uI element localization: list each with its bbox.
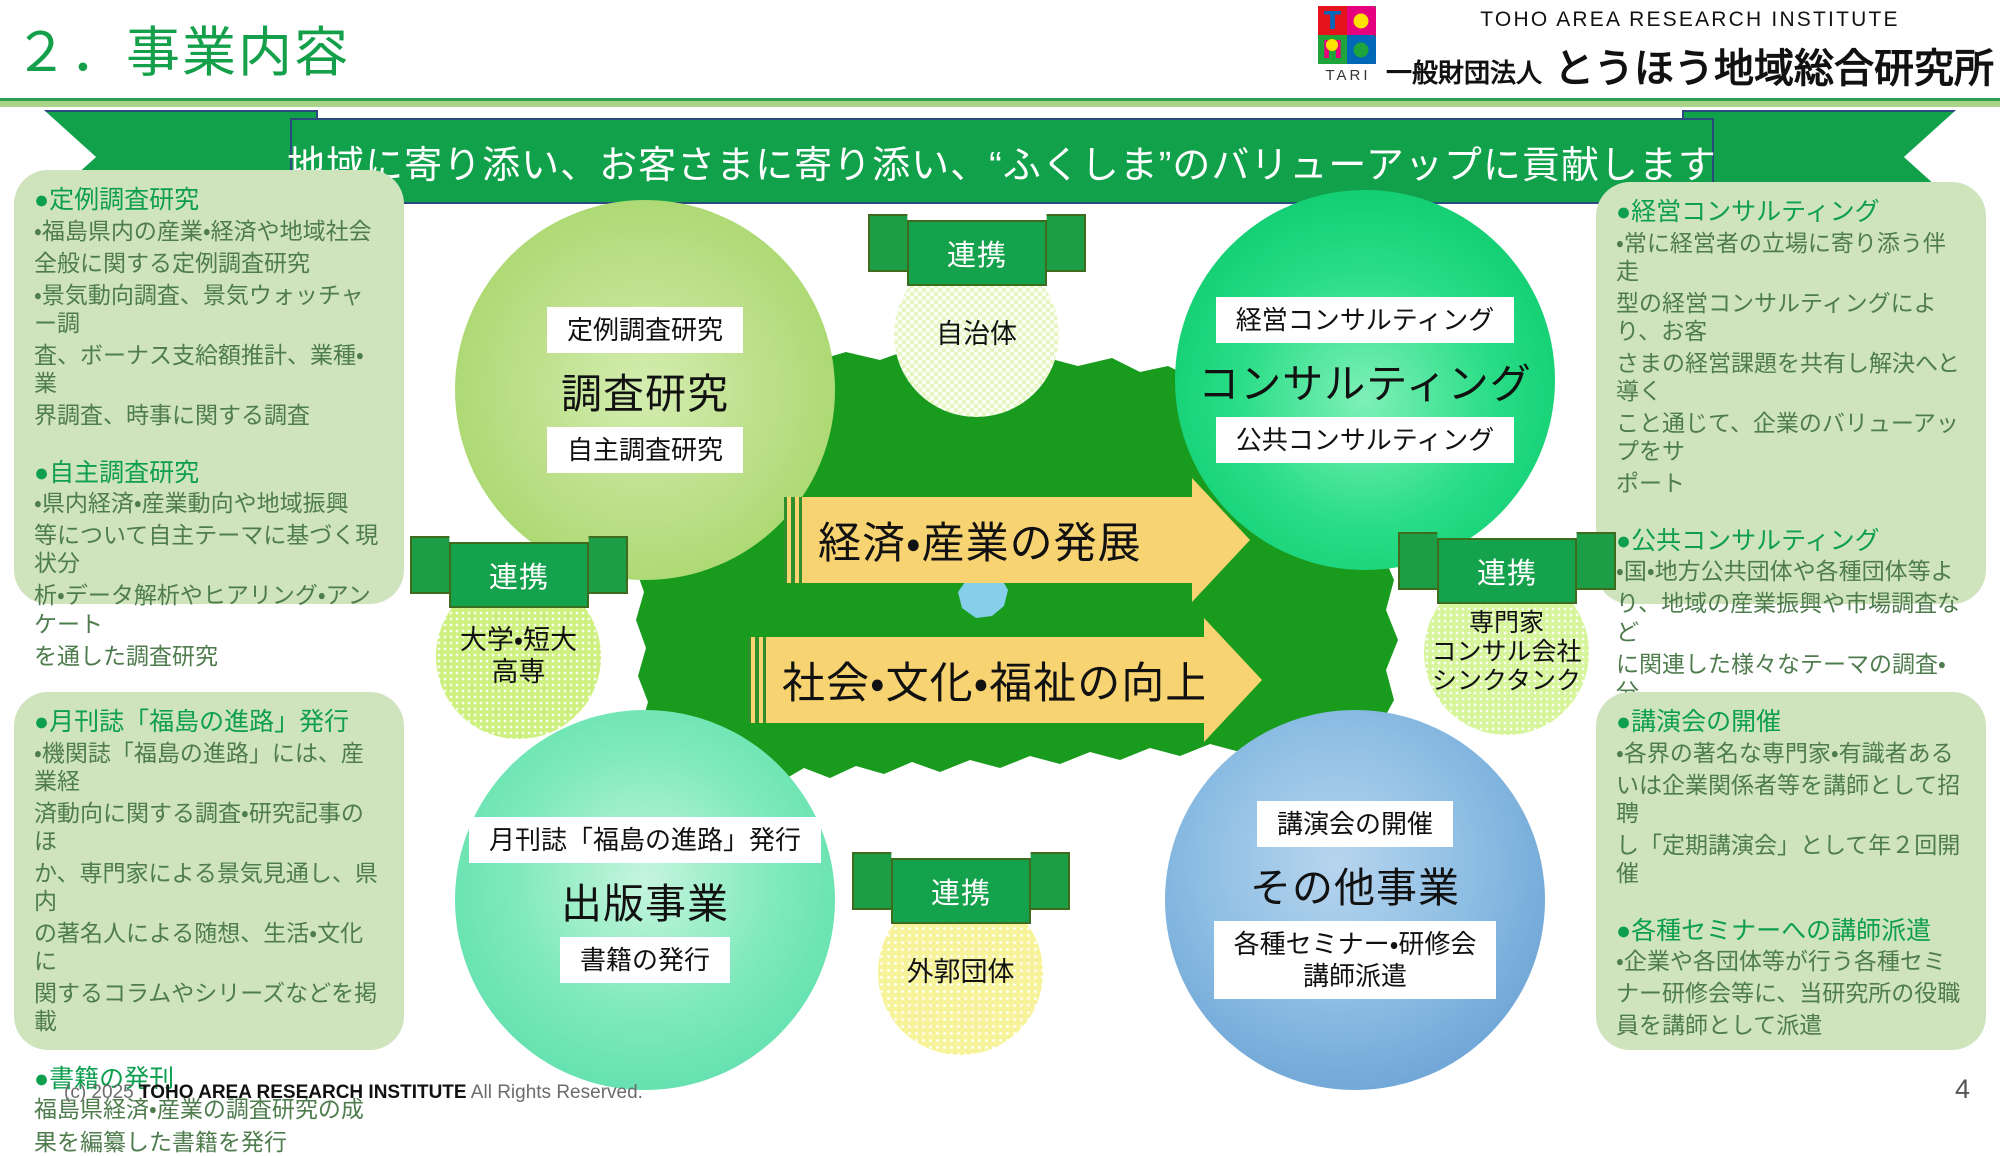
panel-line: り、地域の産業振興や市場調査など [1616,589,1968,645]
cooperation-ribbon: 連携 [1398,530,1616,604]
circle-title: その他事業 [1250,854,1460,914]
business-circle-other[interactable]: 講演会の開催 その他事業 各種セミナー・研修会講師派遣 [1165,710,1545,1090]
circle-title: 調査研究 [561,360,729,420]
panel-line: ・県内経済・産業動向や地域振興 [34,489,386,517]
partner-label: 大学・短大 [460,625,577,656]
tagline-text: 地域に寄り添い、お客さまに寄り添い、“ふくしま”のバリューアップに貢献します [287,134,1717,189]
logo-abbrev: TARI [1318,67,1378,84]
logo-english-name: TOHO AREA RESEARCH INSTITUTE [1386,8,1994,32]
cooperation-ribbon: 連携 [410,534,628,608]
circle-tag-top: 月刊誌「福島の進路」発行 [469,817,821,863]
panel-research-details: ●定例調査研究 ・福島県内の産業・経済や地域社会 全般に関する定例調査研究 ・景… [14,170,404,604]
panel-line: を通した調査研究 [34,642,386,670]
toho-logo-mark: T H TARI [1318,2,1378,84]
partner-university[interactable]: 連携 大学・短大 高専 [436,574,601,739]
arrow-stripes-icon [748,637,766,723]
panel-line: ・各界の著名な専門家・有識者ある [1616,739,1968,767]
partner-label-line3: シンクタンク [1432,667,1581,696]
partner-label-line2: コンサル会社 [1431,638,1581,667]
panel-line: し「定期講演会」として年２回開催 [1616,831,1968,887]
circle-tag-top: 定例調査研究 [547,307,743,353]
partner-municipality[interactable]: 連携 自治体 [894,252,1059,417]
footer-copyright: (c) 2025 TOHO AREA RESEARCH INSTITUTE Al… [64,1082,643,1104]
panel-spacer [1616,891,1968,917]
panel-heading: ●月刊誌「福島の進路」発行 [34,708,386,738]
panel-line: ・国・地方公共団体や各種団体等よ [1616,557,1968,585]
panel-line: さまの経営課題を共有し解決へと導く [1616,349,1968,405]
panel-line: 全般に関する定例調査研究 [34,249,386,277]
panel-line: こと通じて、企業のバリューアップをサ [1616,409,1968,465]
arrow-stripes-icon [784,497,802,583]
panel-line: か、専門家による景気見通し、県内 [34,859,386,915]
ribbon-center: 地域に寄り添い、お客さまに寄り添い、“ふくしま”のバリューアップに貢献します [290,118,1714,204]
copyright-suffix: All Rights Reserved. [467,1082,643,1103]
cooperation-ribbon: 連携 [868,212,1086,286]
panel-other-details: ●講演会の開催 ・各界の著名な専門家・有識者ある いは企業関係者等を講師として招… [1596,692,1986,1050]
circle-tag-top: 経営コンサルティング [1216,297,1514,343]
logo-corp-prefix: 一般財団法人 [1386,53,1542,90]
circle-tag-bottom: 各種セミナー・研修会講師派遣 [1214,921,1497,999]
page-title: ２．事業内容 [14,8,350,87]
partner-label: 専門家 [1469,609,1544,638]
circle-title: コンサルティング [1198,350,1532,410]
circle-tag-bottom: 自主調査研究 [547,427,743,473]
partner-label-line2: 高専 [492,657,546,688]
panel-line: いは企業関係者等を講師として招聘 [1616,771,1968,827]
arrow-society: 社会・文化・福祉の向上 [748,618,1262,742]
cooperation-ribbon: 連携 [852,850,1070,924]
panel-heading: ●公共コンサルティング [1616,527,1968,557]
panel-line: 等について自主テーマに基づく現状分 [34,521,386,577]
business-circle-research[interactable]: 定例調査研究 調査研究 自主調査研究 [455,200,835,580]
panel-publishing-details: ●月刊誌「福島の進路」発行 ・機関誌「福島の進路」には、産業経 済動向に関する調… [14,692,404,1050]
slide-header: ２．事業内容 T H [0,0,2000,100]
panel-heading: ●自主調査研究 [34,459,386,489]
panel-line: ポート [1616,469,1968,497]
partner-expert[interactable]: 連携 専門家 コンサル会社 シンクタンク [1424,570,1589,735]
panel-line: 済動向に関する調査・研究記事のほ [34,799,386,855]
arrow-label: 社会・文化・福祉の向上 [772,649,1209,711]
panel-spacer [34,433,386,459]
copyright-org: TOHO AREA RESEARCH INSTITUTE [139,1082,467,1103]
panel-line: ・機関誌「福島の進路」には、産業経 [34,739,386,795]
panel-line: 型の経営コンサルティングにより、お客 [1616,289,1968,345]
logo-corp-name: とうほう地域総合研究所 [1554,36,1994,94]
partner-label: 自治体 [936,319,1017,350]
panel-heading: ●経営コンサルティング [1616,198,1968,228]
panel-heading: ●講演会の開催 [1616,708,1968,738]
ribbon-label: 連携 [907,220,1047,286]
circle-tag-top: 講演会の開催 [1257,801,1453,847]
arrow-economy: 経済・産業の発展 [784,478,1250,602]
ribbon-label: 連携 [1437,538,1577,604]
panel-heading: ●定例調査研究 [34,186,386,216]
copyright-prefix: (c) 2025 [64,1082,139,1103]
panel-line: ・福島県内の産業・経済や地域社会 [34,217,386,245]
panel-line: の著名人による随想、生活・文化に [34,919,386,975]
panel-line: 査、ボーナス支給額推計、業種・業 [34,341,386,397]
toho-logo-squares: T H [1318,6,1376,64]
panel-spacer [1616,501,1968,527]
panel-line: 関するコラムやシリーズなどを掲載 [34,979,386,1035]
header-divider [0,98,2000,107]
panel-heading: ●各種セミナーへの講師派遣 [1616,917,1968,947]
ribbon-label: 連携 [449,542,589,608]
partner-affiliate[interactable]: 連携 外郭団体 [878,890,1043,1055]
partner-label: 外郭団体 [907,957,1015,988]
panel-consulting-details: ●経営コンサルティング ・常に経営者の立場に寄り添う伴走 型の経営コンサルティン… [1596,182,1986,604]
logo-square-o1 [1347,6,1376,35]
panel-line: ・常に経営者の立場に寄り添う伴走 [1616,229,1968,285]
logo-square-o2 [1347,35,1376,64]
logo-wordmark: TOHO AREA RESEARCH INSTITUTE 一般財団法人 とうほう… [1386,2,1994,94]
page-number: 4 [1955,1074,1970,1105]
panel-line: 果を編纂した書籍を発行 [34,1128,386,1156]
arrow-label: 経済・産業の発展 [808,509,1142,571]
circle-tag-bottom: 書籍の発行 [560,937,730,983]
arrow-head-icon [1204,618,1262,742]
panel-line: ・景気動向調査、景気ウォッチャー調 [34,281,386,337]
panel-line: ・企業や各団体等が行う各種セミ [1616,947,1968,975]
circle-tag-bottom: 公共コンサルティング [1216,417,1514,463]
panel-line: 界調査、時事に関する調査 [34,401,386,429]
company-logo: T H TARI T [1318,2,1994,96]
panel-line: 員を講師として派遣 [1616,1011,1968,1039]
logo-square-t: T [1318,6,1347,35]
arrow-head-icon [1192,478,1250,602]
panel-spacer [34,1039,386,1065]
logo-square-h: H [1318,35,1347,64]
business-circle-publishing[interactable]: 月刊誌「福島の進路」発行 出版事業 書籍の発行 [455,710,835,1090]
circle-title: 出版事業 [561,870,729,930]
panel-line: 析・データ解析やヒアリング・アンケート [34,581,386,637]
panel-line: ナー研修会等に、当研究所の役職 [1616,979,1968,1007]
logo-letter-t: T [1318,6,1347,35]
ribbon-label: 連携 [891,858,1031,924]
